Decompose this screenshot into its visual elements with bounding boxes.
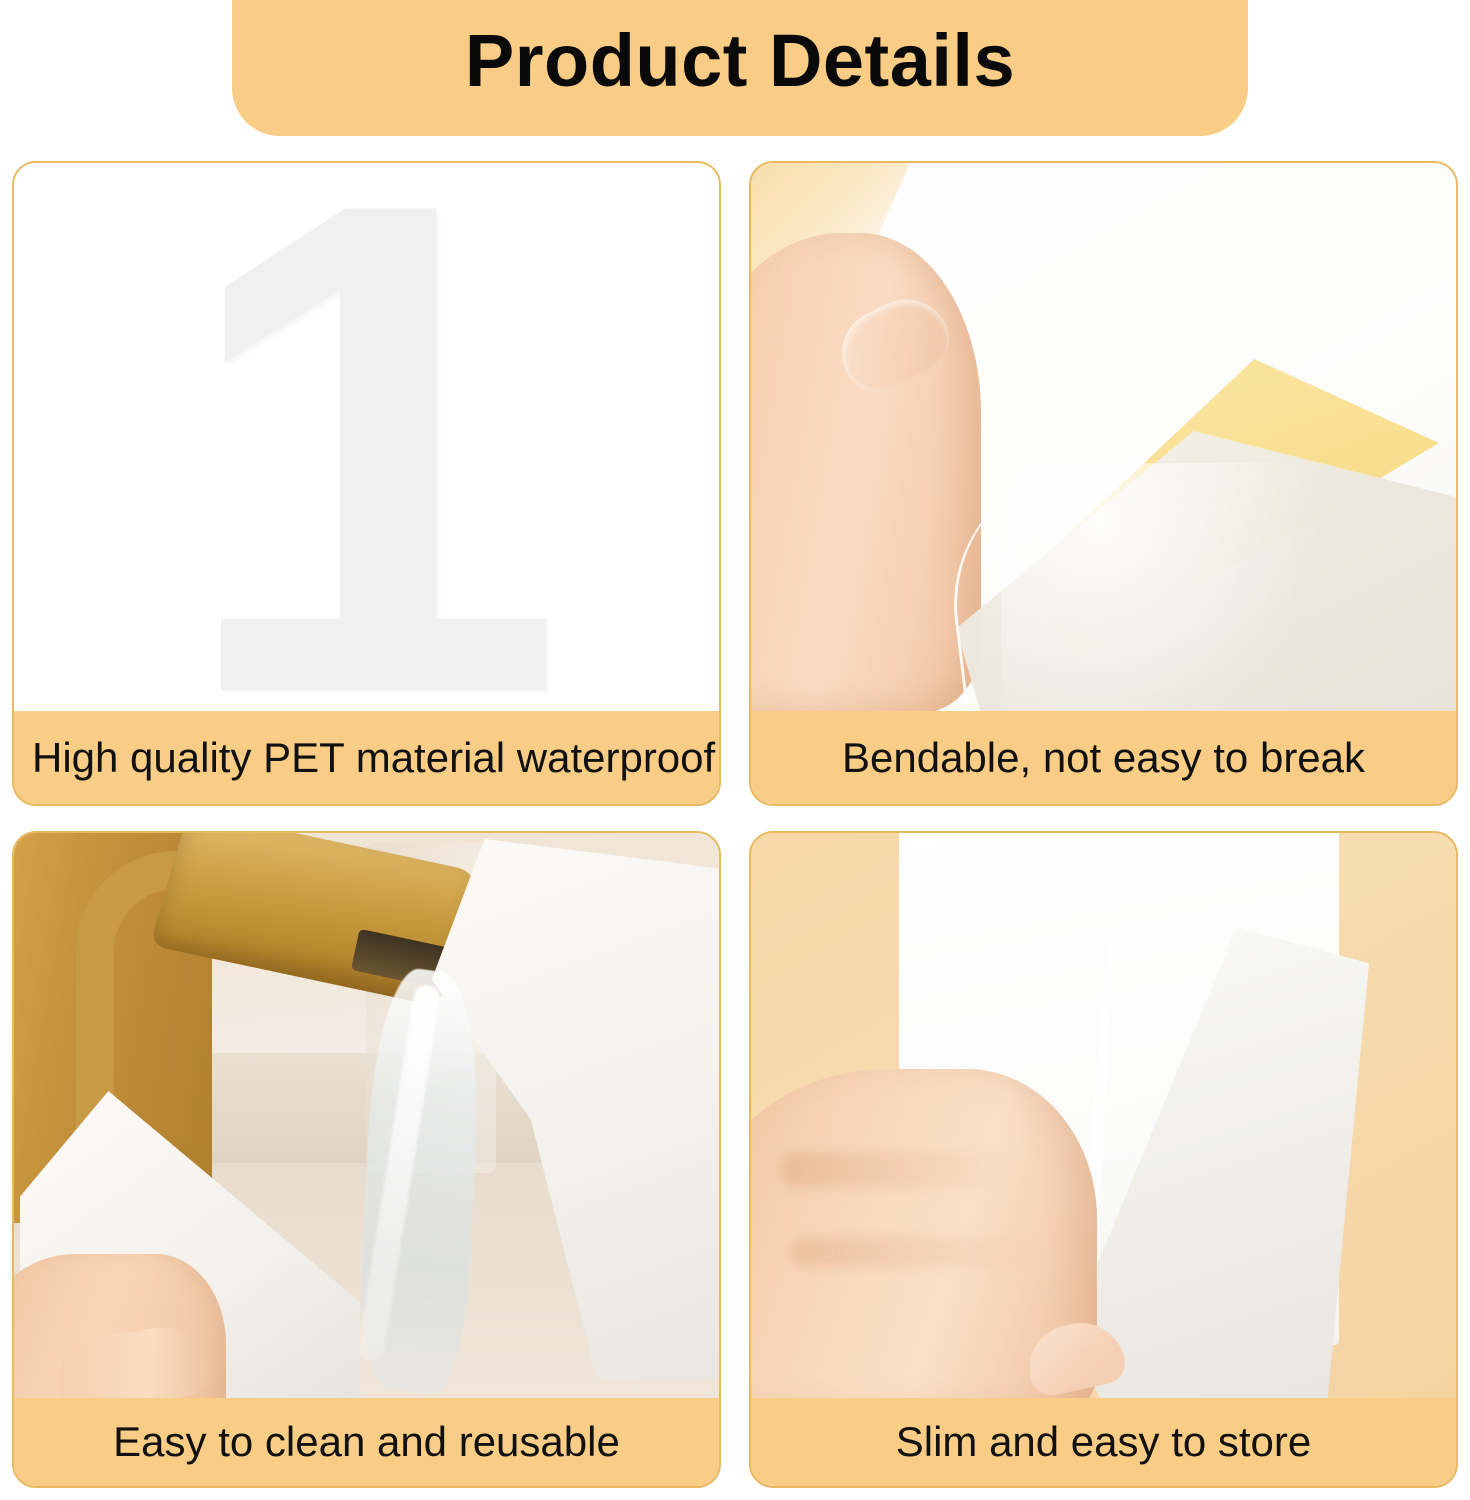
photo-white-house-number-one-sign: 1 — [14, 163, 719, 711]
detail-card-bendable: Bendable, not easy to break — [749, 161, 1458, 806]
scene-numeral-backdrop: 1 — [14, 163, 719, 711]
photo-fingers-holding-thin-sheet — [751, 833, 1456, 1398]
detail-card-pet-waterproof: 1 High quality PET material waterproof — [12, 161, 721, 806]
thumb-shape — [751, 233, 981, 711]
detail-card-easy-clean: Easy to clean and reusable — [12, 831, 721, 1488]
detail-card-slim-store: Slim and easy to store — [749, 831, 1458, 1488]
scene-slim-backdrop — [751, 833, 1456, 1398]
page-title: Product Details — [465, 24, 1015, 112]
photo-gold-faucet-rinsing-sign — [14, 833, 719, 1398]
caption-slim-store: Slim and easy to store — [751, 1398, 1456, 1486]
scene-bend-backdrop — [751, 163, 1456, 711]
scene-wash-backdrop — [14, 833, 719, 1398]
thumbnail-shape — [827, 285, 960, 403]
product-details-grid: 1 High quality PET material waterproof B… — [12, 161, 1458, 1488]
header-banner: Product Details — [232, 0, 1248, 136]
photo-hand-bending-pet-sheet — [751, 163, 1456, 711]
knuckle-crease-upper — [781, 1153, 1011, 1187]
caption-easy-clean: Easy to clean and reusable — [14, 1398, 719, 1486]
caption-pet-waterproof: High quality PET material waterproof — [14, 711, 719, 804]
house-number-numeral: 1 — [177, 175, 556, 711]
knuckle-crease-lower — [791, 1237, 1041, 1267]
caption-bendable: Bendable, not easy to break — [751, 711, 1456, 804]
